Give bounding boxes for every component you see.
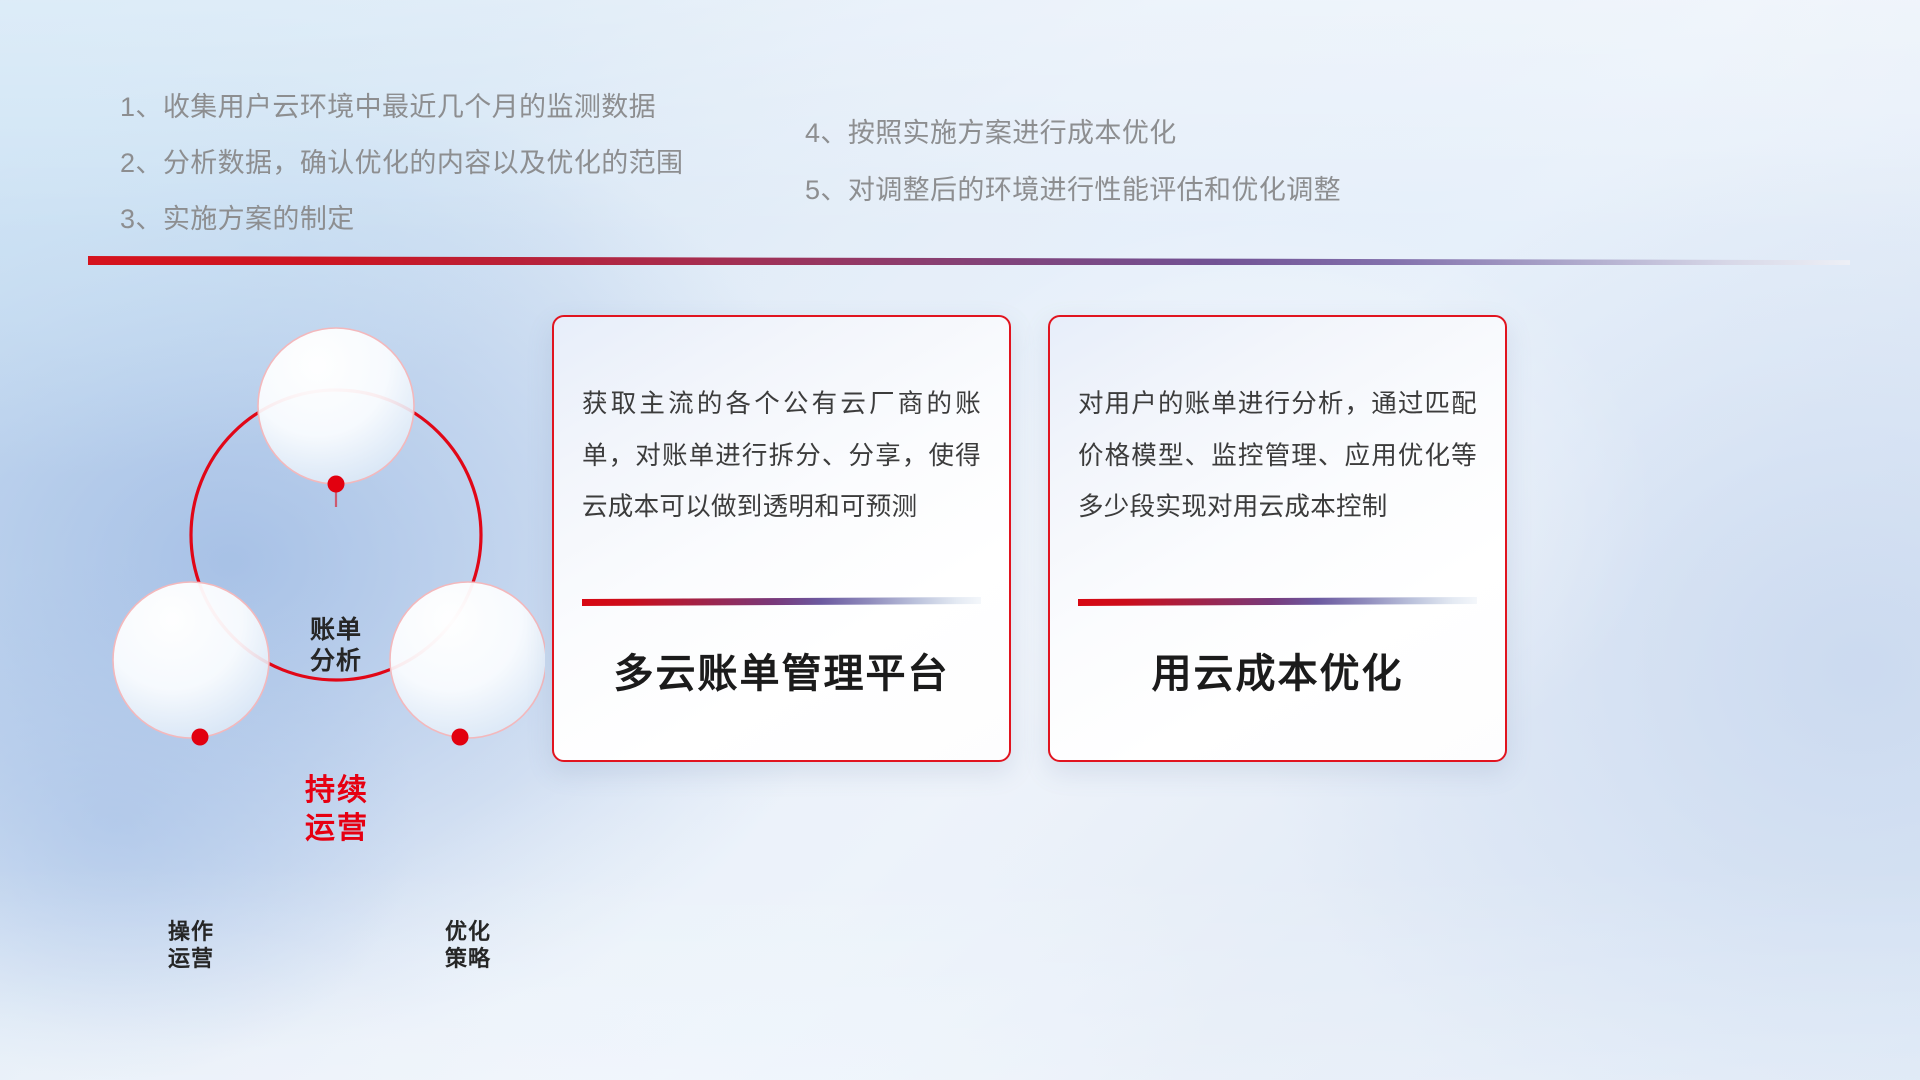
venn-shapes [113, 328, 545, 746]
list-item: 4、按照实施方案进行成本优化 [805, 120, 1341, 147]
card-cloud-cost-optimization[interactable]: 对用户的账单进行分析，通过匹配价格模型、监控管理、应用优化等多少段实现对用云成本… [1048, 315, 1507, 762]
venn-node-label-bottom-left: 操作 运营 [121, 919, 261, 973]
venn-diagram-svg [75, 285, 545, 775]
venn-circle-bottom-left [113, 582, 269, 738]
card-multi-cloud-billing[interactable]: 获取主流的各个公有云厂商的账单，对账单进行拆分、分享，使得云成本可以做到透明和可… [552, 315, 1011, 762]
venn-circle-top [258, 328, 414, 484]
card-inner: 获取主流的各个公有云厂商的账单，对账单进行拆分、分享，使得云成本可以做到透明和可… [554, 317, 1009, 760]
venn-center-label: 持续 运营 [257, 772, 417, 849]
card-title: 多云账单管理平台 [554, 641, 1009, 699]
venn-node-label-bottom-right: 优化 策略 [398, 919, 538, 973]
process-steps: 1、收集用户云环境中最近几个月的监测数据 2、分析数据，确认优化的内容以及优化的… [0, 0, 1920, 260]
venn-node-label-top: 账单 分析 [256, 615, 416, 676]
divider-gradient-bar [88, 256, 1850, 265]
card-gradient-rule [1078, 597, 1477, 606]
list-item: 2、分析数据，确认优化的内容以及优化的范围 [120, 150, 683, 177]
card-gradient-rule [582, 597, 981, 606]
venn-diagram: 账单 分析 操作 运营 优化 策略 持续 运营 [75, 285, 545, 775]
venn-dot-bottom-left [192, 729, 209, 746]
card-inner: 对用户的账单进行分析，通过匹配价格模型、监控管理、应用优化等多少段实现对用云成本… [1050, 317, 1505, 760]
list-item: 3、实施方案的制定 [120, 206, 683, 233]
process-steps-left-column: 1、收集用户云环境中最近几个月的监测数据 2、分析数据，确认优化的内容以及优化的… [120, 94, 683, 262]
card-body-text: 对用户的账单进行分析，通过匹配价格模型、监控管理、应用优化等多少段实现对用云成本… [1078, 379, 1477, 534]
list-item: 1、收集用户云环境中最近几个月的监测数据 [120, 94, 683, 121]
section-divider [88, 256, 1850, 265]
process-steps-right-column: 4、按照实施方案进行成本优化 5、对调整后的环境进行性能评估和优化调整 [805, 120, 1341, 234]
card-body-text: 获取主流的各个公有云厂商的账单，对账单进行拆分、分享，使得云成本可以做到透明和可… [582, 379, 981, 534]
venn-dot-bottom-right [452, 729, 469, 746]
card-title: 用云成本优化 [1050, 641, 1505, 699]
list-item: 5、对调整后的环境进行性能评估和优化调整 [805, 177, 1341, 204]
